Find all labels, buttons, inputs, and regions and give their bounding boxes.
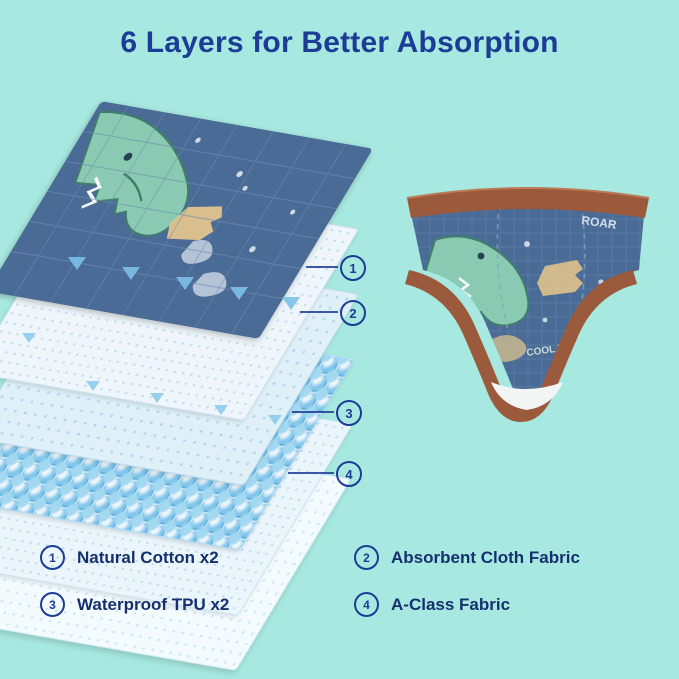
legend-item-1: 1 Natural Cotton x2 (40, 545, 336, 570)
callout-badge-4: 4 (336, 461, 362, 487)
legend-item-3: 3 Waterproof TPU x2 (40, 592, 336, 617)
legend-badge-4: 4 (354, 592, 379, 617)
callout-badge-3: 3 (336, 400, 362, 426)
flow-arrow-icon (122, 267, 140, 280)
page-title: 6 Layers for Better Absorption (0, 26, 679, 60)
print-word-cool-dinosaur: DINOSAU (590, 314, 612, 366)
layer-stack-illustration: 1 2 3 4 (0, 95, 380, 495)
callout-leader-3 (292, 411, 334, 413)
flow-arrow-icon (268, 415, 282, 425)
legend-label-2: Absorbent Cloth Fabric (391, 548, 580, 568)
callout-badge-2: 2 (340, 300, 366, 326)
legend-item-4: 4 A-Class Fabric (336, 592, 650, 617)
legend: 1 Natural Cotton x2 2 Absorbent Cloth Fa… (40, 545, 650, 639)
flow-arrow-icon (86, 381, 100, 391)
legend-row: 1 Natural Cotton x2 2 Absorbent Cloth Fa… (40, 545, 650, 570)
flow-arrow-icon (68, 257, 86, 270)
flow-arrow-icon (230, 287, 248, 300)
legend-badge-3: 3 (40, 592, 65, 617)
callout-leader-4 (288, 472, 334, 474)
legend-badge-2: 2 (354, 545, 379, 570)
flow-arrow-icon (22, 333, 36, 343)
flow-arrow-icon (282, 297, 300, 310)
legend-item-2: 2 Absorbent Cloth Fabric (336, 545, 650, 570)
legend-row: 3 Waterproof TPU x2 4 A-Class Fabric (40, 592, 650, 617)
legend-label-1: Natural Cotton x2 (77, 548, 219, 568)
callout-leader-2 (300, 311, 338, 313)
flow-arrow-icon (150, 393, 164, 403)
callout-leader-1 (306, 266, 338, 268)
legend-label-3: Waterproof TPU x2 (77, 595, 229, 615)
callout-badge-1: 1 (340, 255, 366, 281)
flow-arrow-icon (214, 405, 228, 415)
legend-label-4: A-Class Fabric (391, 595, 510, 615)
product-photo: ROAR DINOSAU COOL DINOSAUR (395, 170, 660, 430)
flow-arrow-icon (176, 277, 194, 290)
legend-badge-1: 1 (40, 545, 65, 570)
